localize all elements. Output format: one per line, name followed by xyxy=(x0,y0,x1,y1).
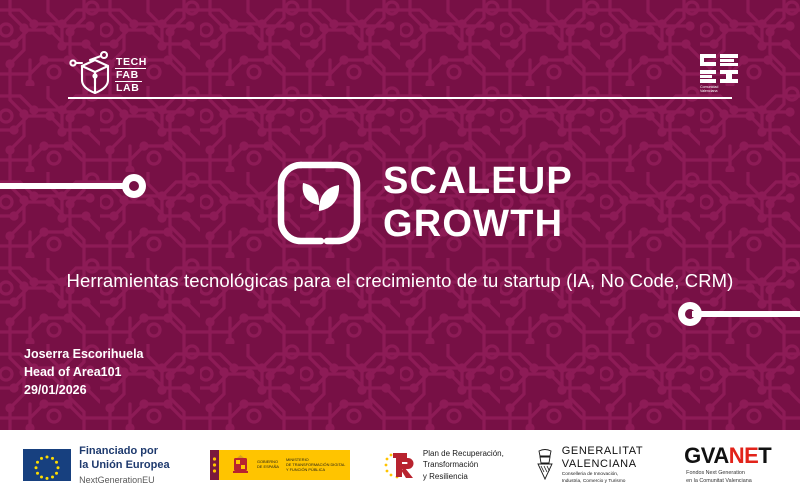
gvan-line-1: Fondos Next Generation xyxy=(686,470,771,478)
decor-line-left xyxy=(0,183,128,189)
tfl-line1: TECH xyxy=(116,56,147,68)
gva-line-4: Industria, Comercio y Turismo xyxy=(562,479,643,485)
prtr-line-2: Transformación xyxy=(423,459,504,470)
speaker-info: Joserra Escorihuela Head of Area101 29/0… xyxy=(24,345,144,399)
gvan-line-2: en la Comunitat Valenciana xyxy=(686,478,771,486)
tech-fab-lab-logo: TECH FAB LAB xyxy=(68,50,188,96)
title-line-2: GROWTH xyxy=(383,203,573,246)
header-divider xyxy=(68,97,732,99)
gva-next-wordmark: GVANET xyxy=(684,445,771,467)
tfl-line2: FAB xyxy=(116,69,139,81)
footer-logo-eu-funding: Financiado por la Unión Europea NextGene… xyxy=(0,445,193,485)
title-line-1: SCALEUP xyxy=(383,160,573,203)
tfl-line3: LAB xyxy=(116,82,139,94)
gob-line-5: Y FUNCIÓN PÚBLICA xyxy=(286,467,325,472)
footer-logo-gobierno-espana: GOBIERNO DE ESPAÑA MINISTERIO DE TRANSFO… xyxy=(193,450,367,480)
subtitle: Herramientas tecnológicas para el crecim… xyxy=(0,270,800,292)
ceei-logo: Comunidad Valenciana xyxy=(698,52,742,92)
eu-flag-icon xyxy=(23,449,71,481)
generalitat-crest-icon xyxy=(533,449,557,481)
title-text: SCALEUP GROWTH xyxy=(383,160,573,246)
speaker-date: 29/01/2026 xyxy=(24,381,144,399)
presentation-slide: TECH FAB LAB xyxy=(0,0,800,500)
speaker-name: Joserra Escorihuela xyxy=(24,345,144,363)
hero-panel: TECH FAB LAB xyxy=(0,0,800,430)
prtr-logo-icon xyxy=(383,449,417,481)
sprout-plant-icon xyxy=(277,161,361,245)
gob-line-2: DE ESPAÑA xyxy=(257,464,279,469)
gvan-part-2: NE xyxy=(729,443,759,468)
footer-logo-gva-next: GVANET Fondos Next Generation en la Comu… xyxy=(655,445,800,485)
title-block: SCALEUP GROWTH xyxy=(277,160,573,246)
footer-logo-bar: Financiado por la Unión Europea NextGene… xyxy=(0,430,800,500)
ceei-sub2: Valenciana xyxy=(700,89,718,92)
footer-logo-generalitat-valenciana: GENERALITAT VALENCIANA Conselleria de In… xyxy=(520,445,655,485)
eu-line-1: Financiado por xyxy=(79,445,169,459)
gvan-part-3: T xyxy=(758,443,771,468)
gvan-part-1: GVA xyxy=(684,443,729,468)
eu-line-3: NextGenerationEU xyxy=(79,475,169,485)
prtr-line-1: Plan de Recuperación, xyxy=(423,448,504,459)
decor-node-left xyxy=(122,174,146,198)
gva-line-1: GENERALITAT xyxy=(562,445,643,458)
gva-line-2: VALENCIANA xyxy=(562,458,643,471)
decor-line-right xyxy=(692,311,800,317)
spain-coat-of-arms-icon: GOBIERNO DE ESPAÑA MINISTERIO DE TRANSFO… xyxy=(210,450,350,480)
speaker-role: Head of Area101 xyxy=(24,363,144,381)
eu-line-2: la Unión Europea xyxy=(79,459,169,473)
footer-logo-plan-recuperacion: Plan de Recuperación, Transformación y R… xyxy=(366,448,520,482)
prtr-line-3: y Resiliencia xyxy=(423,471,504,482)
